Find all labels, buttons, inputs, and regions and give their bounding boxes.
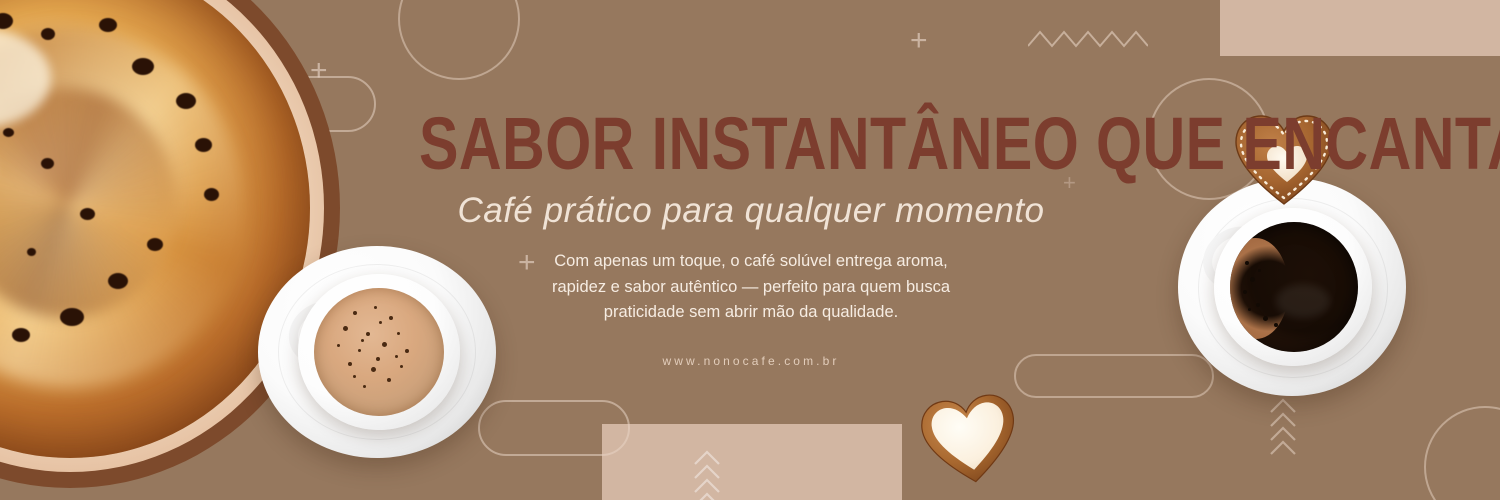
black-coffee-surface: [1230, 222, 1358, 352]
body-copy: Com apenas um toque, o café solúvel entr…: [525, 249, 977, 326]
zigzag-line-top: [1028, 28, 1148, 50]
chevron-arrows-bottom-right: [1266, 398, 1300, 458]
beige-rectangle-bottom-center: [602, 424, 902, 500]
plus-mark-top-center: +: [910, 26, 928, 56]
beige-rectangle-top-right: [1220, 0, 1500, 56]
heart-cookie-bottom: [920, 394, 1020, 486]
circle-outline-top: [398, 0, 520, 80]
circle-outline-bottom-right: [1424, 406, 1500, 500]
website-url[interactable]: www.nonocafe.com.br: [336, 354, 1166, 368]
coffee-promo-banner: + + + +: [0, 0, 1500, 500]
page-title: SABOR INSTANTÂNEO QUE ENCANTA: [419, 108, 1083, 179]
chevron-arrows-bottom-center: [690, 450, 724, 500]
banner-text-block: SABOR INSTANTÂNEO QUE ENCANTA Café práti…: [336, 108, 1166, 368]
subheadline: Café prático para qualquer momento: [336, 191, 1166, 231]
black-coffee-cup: [1178, 178, 1406, 396]
pill-outline-bottom-left: [478, 400, 630, 456]
